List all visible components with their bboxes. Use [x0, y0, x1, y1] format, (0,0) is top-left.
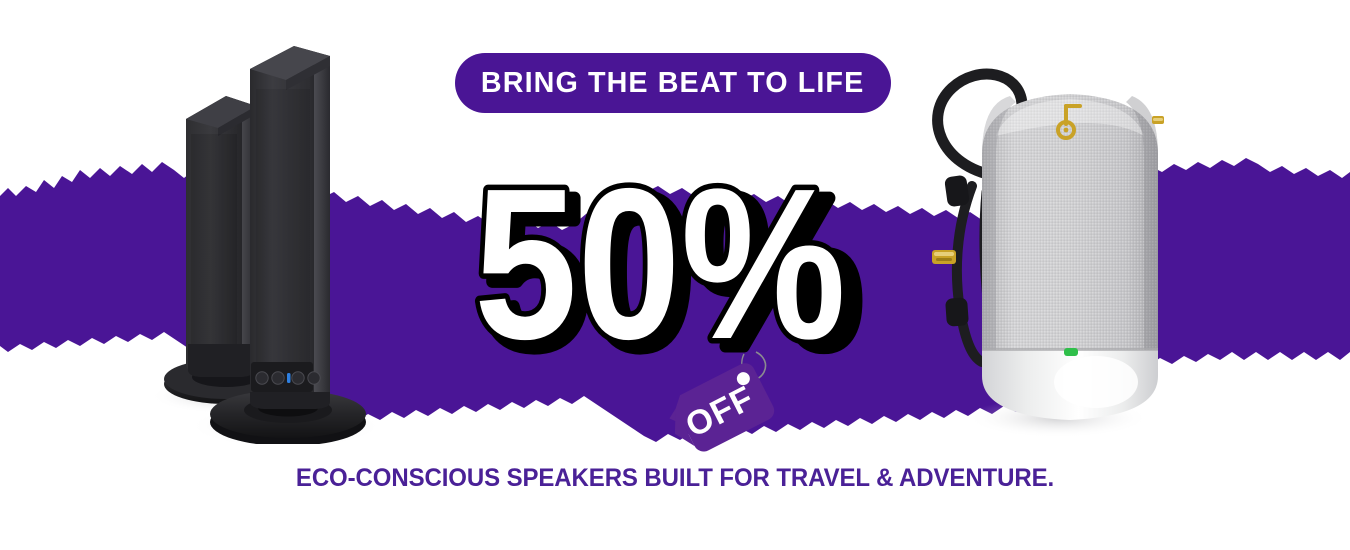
power-button-icon — [256, 372, 268, 384]
promo-banner: BRING THE BEAT TO LIFE 50% 50% 50% OFF O… — [0, 0, 1350, 550]
volume-down-button-icon — [292, 372, 304, 384]
off-price-tag: OFF OFF — [660, 332, 790, 442]
status-led-icon — [287, 373, 291, 383]
source-button-icon — [272, 372, 284, 384]
headline-badge: BRING THE BEAT TO LIFE — [455, 53, 891, 113]
headline-badge-label: BRING THE BEAT TO LIFE — [481, 67, 864, 100]
tagline: ECO-CONSCIOUS SPEAKERS BUILT FOR TRAVEL … — [27, 464, 1323, 493]
strap-clip-icon — [932, 250, 956, 264]
tower-speakers-product-image — [138, 44, 390, 444]
portable-speaker-product-image — [900, 58, 1192, 460]
volume-up-button-icon — [308, 372, 320, 384]
power-led-icon — [1064, 348, 1078, 356]
strap-anchor-icon — [1152, 116, 1164, 124]
cord-lock-icon — [945, 297, 969, 326]
cord-lock-icon — [944, 175, 970, 208]
